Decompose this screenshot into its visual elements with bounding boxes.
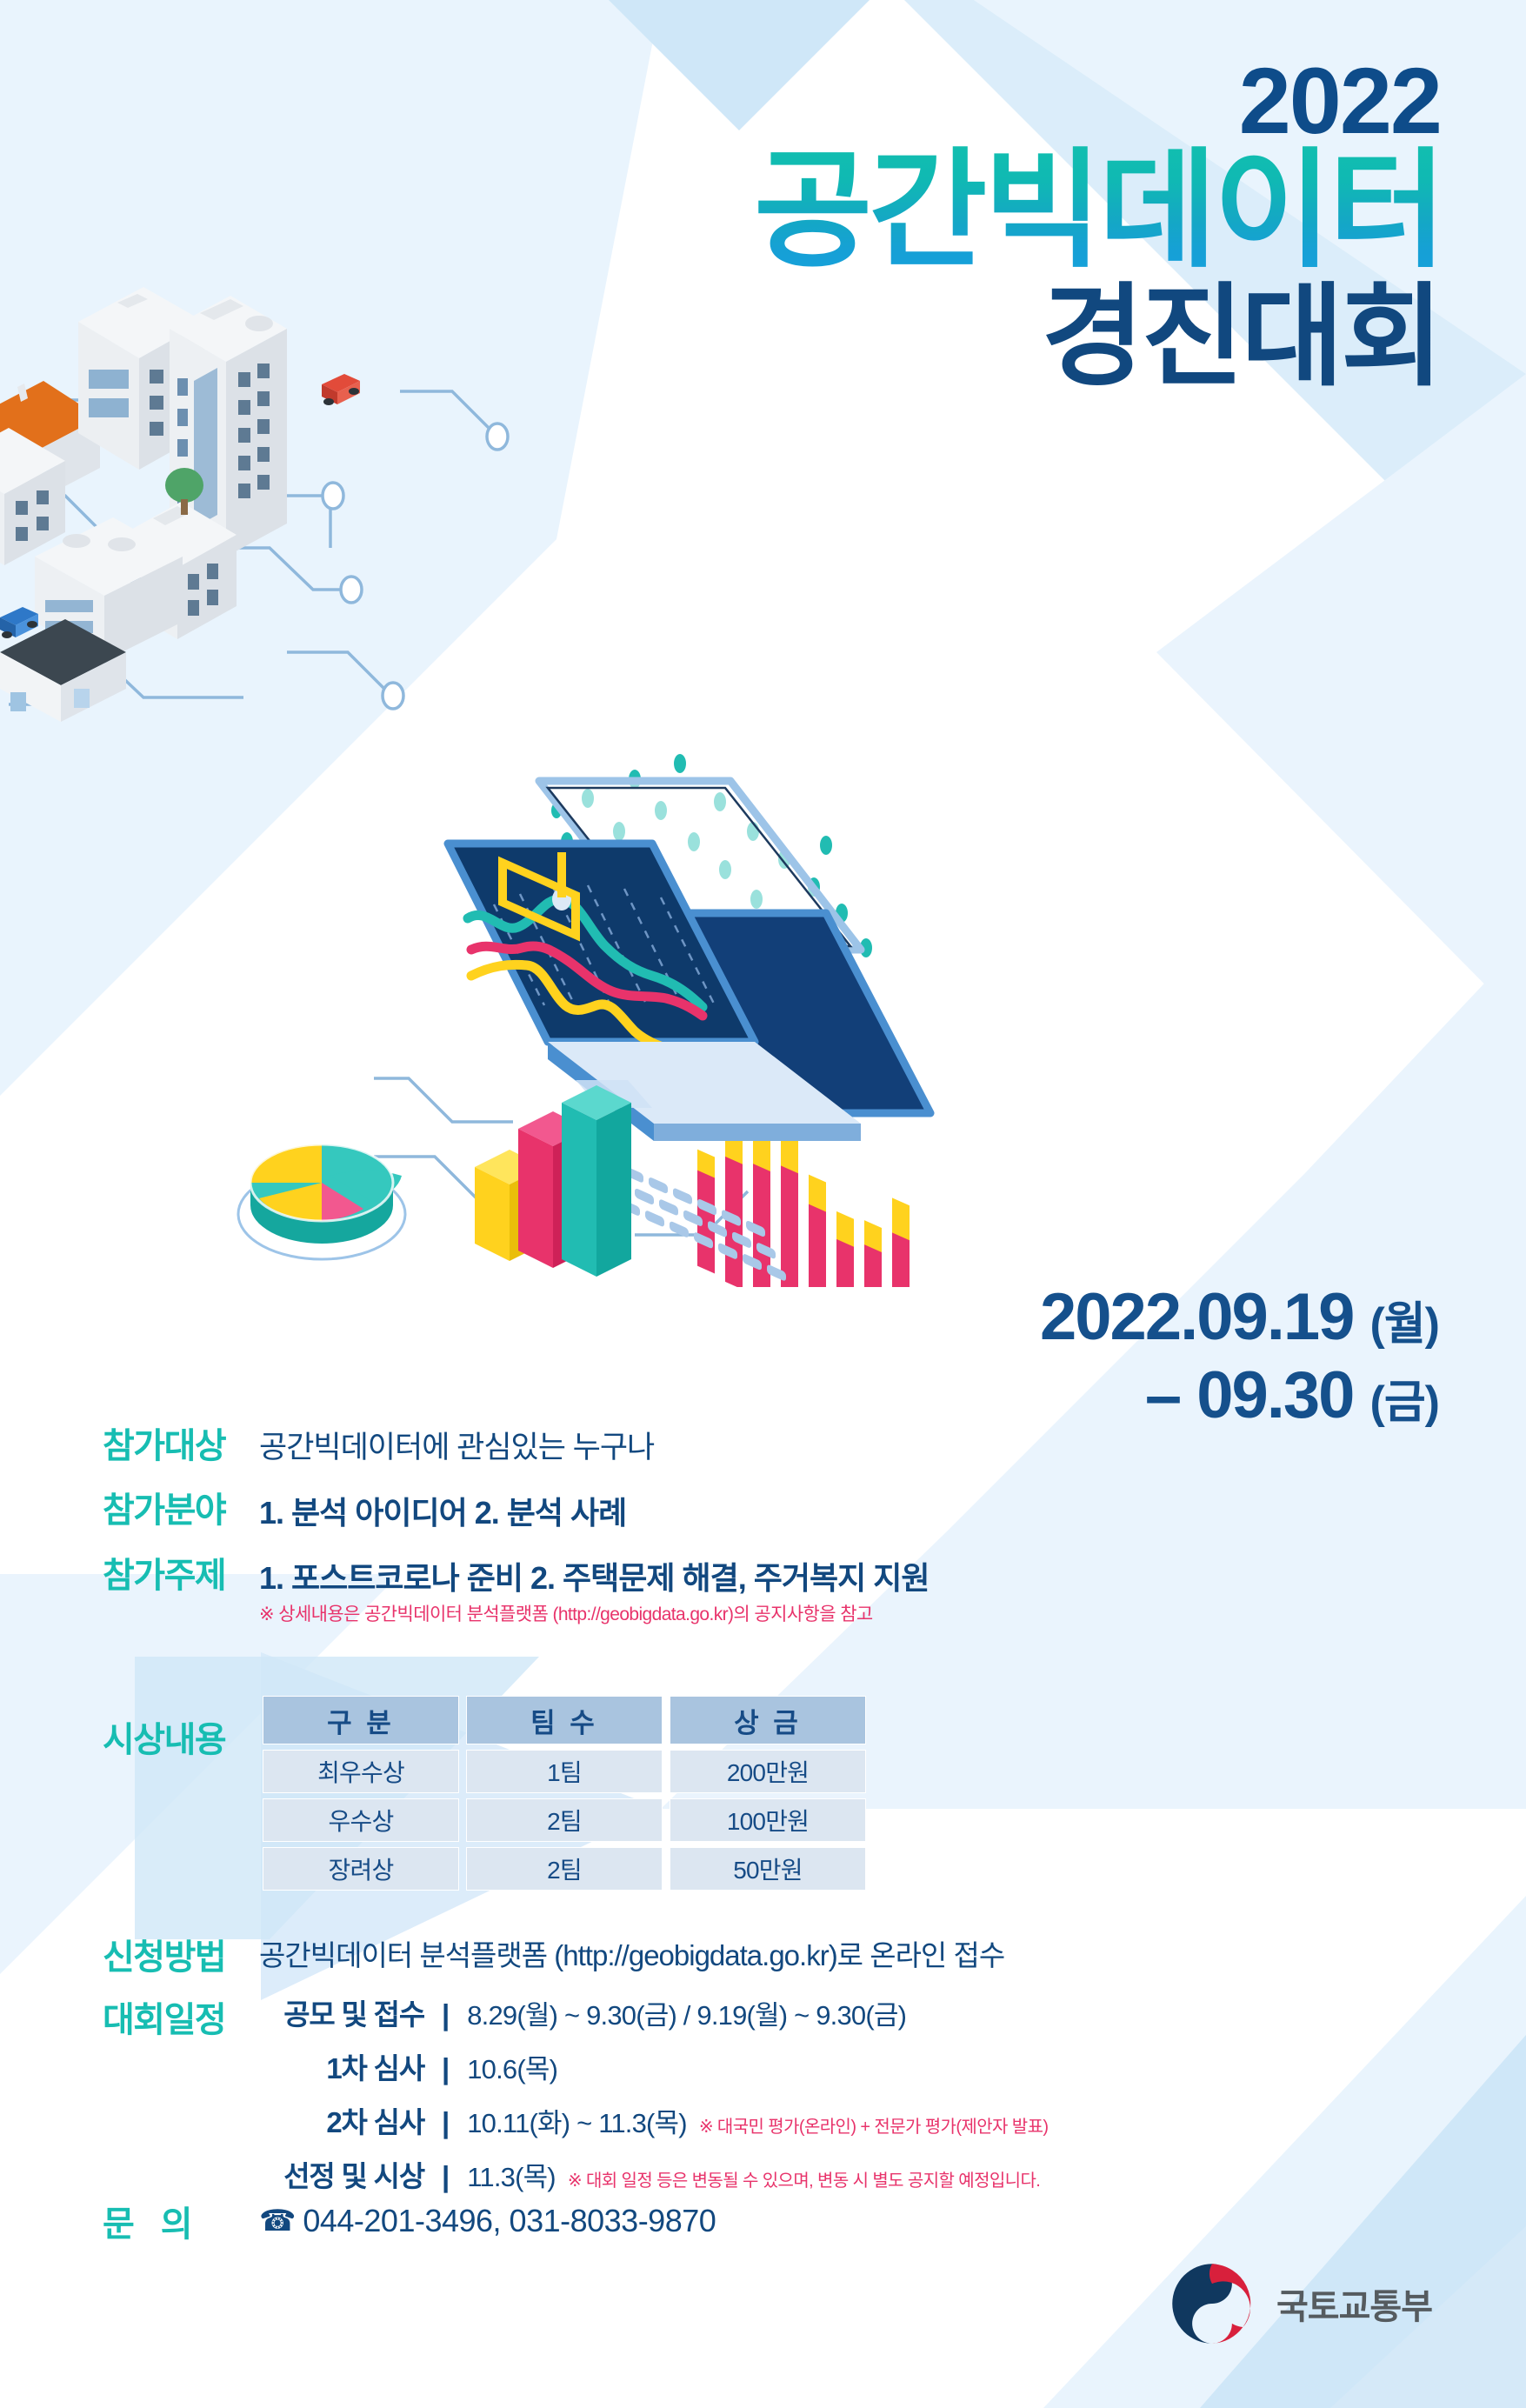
schedule-row-award: 선정 및 시상 | 11.3(목) ※ 대회 일정 등은 변동될 수 있으며, … [270, 2153, 1526, 2195]
table-row: 장려상 2팀 50만원 [263, 1847, 866, 1891]
info-value-target: 공간빅데이터에 관심있는 누구나 [259, 1426, 654, 1466]
pie-chart-3d [250, 1144, 402, 1244]
award-cell-prize: 200만원 [670, 1750, 866, 1793]
event-date-start: 2022.09.19 (월) [1040, 1278, 1439, 1357]
schedule-section: 대회일정 공모 및 접수 | 8.29(월) ~ 9.30(금) / 9.19(… [0, 1991, 1526, 2207]
info-row-target: 참가대상 공간빅데이터에 관심있는 누구나 [0, 1426, 1526, 1466]
schedule-note-round2: ※ 대국민 평가(온라인) + 전문가 평가(제안자 발표) [699, 2112, 1049, 2138]
poster-title-sub: 경진대회 [1042, 277, 1441, 399]
award-cell-category: 최우수상 [263, 1750, 459, 1793]
isometric-city-illustration [0, 287, 696, 826]
schedule-name-award: 선정 및 시상 [270, 2153, 424, 2195]
schedule-date-award: 11.3(목) [467, 2155, 556, 2194]
table-row: 최우수상 1팀 200만원 [263, 1750, 866, 1793]
poster-title-main: 공간빅데이터 [754, 139, 1443, 283]
chart-figures-illustration [217, 1052, 635, 1278]
apply-row: 신청방법 공간빅데이터 분석플랫폼 (http://geobigdata.go.… [0, 1929, 1526, 1979]
award-table-header-row: 구 분 팀 수 상 금 [263, 1696, 866, 1744]
event-date-block: 2022.09.19 (월) – 09.30 (금) [1040, 1278, 1439, 1434]
info-label-target: 참가대상 [103, 1426, 259, 1466]
event-date-start-value: 2022.09.19 [1040, 1280, 1353, 1354]
schedule-row-round1: 1차 심사 | 10.6(목) [270, 2045, 1526, 2087]
schedule-date-submission: 8.29(월) ~ 9.30(금) / 9.19(월) ~ 9.30(금) [467, 1993, 906, 2032]
schedule-divider: | [442, 2106, 450, 2139]
info-label-field: 참가분야 [103, 1491, 259, 1531]
award-section: 시상내용 구 분 팀 수 상 금 최우수상 1팀 200만원 우수상 2팀 1 [0, 1691, 873, 1896]
contact-section: 문의 ☎ 044-201-3496, 031-8033-9870 [103, 2196, 716, 2246]
info-value-wrap-field: 1. 분석 아이디어 2. 분석 사례 [259, 1491, 626, 1531]
schedule-row-submission: 공모 및 접수 | 8.29(월) ~ 9.30(금) / 9.19(월) ~ … [270, 1991, 1526, 2033]
footer-ministry-logo: 국토교통부 [1167, 2258, 1432, 2349]
car-blue [0, 607, 38, 638]
poster-root: 2022 공간빅데이터 경진대회 2022.09.19 (월) – 09.30 … [0, 0, 1526, 2408]
schedule-divider: | [442, 2052, 450, 2085]
schedule-date-round2: 10.11(화) ~ 11.3(목) [467, 2101, 687, 2140]
korea-government-taegeuk-icon [1167, 2258, 1257, 2349]
apply-value: 공간빅데이터 분석플랫폼 (http://geobigdata.go.kr)로 … [259, 1929, 1004, 1974]
event-date-end-value: – 09.30 [1145, 1358, 1354, 1432]
telephone-icon: ☎ [259, 2206, 296, 2236]
schedule-row-round2: 2차 심사 | 10.11(화) ~ 11.3(목) ※ 대국민 평가(온라인)… [270, 2099, 1526, 2141]
award-cell-category: 우수상 [263, 1798, 459, 1842]
award-cell-teams: 2팀 [466, 1798, 663, 1842]
info-row-field: 참가분야 1. 분석 아이디어 2. 분석 사례 [0, 1491, 1526, 1531]
bar-chart-bars [697, 1124, 910, 1287]
info-note-topic: ※ 상세내용은 공간빅데이터 분석플랫폼 (http://geobigdata.… [259, 1604, 929, 1625]
schedule-note-award: ※ 대회 일정 등은 변동될 수 있으며, 변동 시 별도 공지할 예정입니다. [568, 2166, 1040, 2191]
award-cell-teams: 2팀 [466, 1847, 663, 1891]
schedule-name-round1: 1차 심사 [270, 2045, 424, 2087]
info-value-field: 1. 분석 아이디어 2. 분석 사례 [259, 1491, 626, 1531]
award-cell-teams: 1팀 [466, 1750, 663, 1793]
schedule-name-submission: 공모 및 접수 [270, 1991, 424, 2033]
schedule-label: 대회일정 [103, 1991, 225, 2042]
schedule-name-round2: 2차 심사 [270, 2099, 424, 2141]
info-row-topic: 참가주제 1. 포스트코로나 준비 2. 주택문제 해결, 주거복지 지원 ※ … [0, 1556, 1526, 1625]
schedule-rows: 공모 및 접수 | 8.29(월) ~ 9.30(금) / 9.19(월) ~ … [270, 1991, 1526, 2195]
event-date-end: – 09.30 (금) [1040, 1357, 1439, 1435]
event-date-end-day: (금) [1370, 1377, 1439, 1428]
event-date-start-day: (월) [1370, 1299, 1439, 1350]
year-heading: 2022 [1239, 54, 1441, 148]
award-col-prize: 상 금 [670, 1696, 866, 1744]
award-col-teams: 팀 수 [466, 1696, 663, 1744]
schedule-date-round1: 10.6(목) [467, 2047, 557, 2086]
apply-label: 신청방법 [103, 1929, 259, 1979]
schedule-divider: | [442, 2160, 450, 2193]
award-cell-category: 장려상 [263, 1847, 459, 1891]
schedule-divider: | [442, 1998, 450, 2031]
info-label-topic: 참가주제 [103, 1556, 259, 1596]
car-red [322, 374, 360, 405]
award-cell-prize: 50만원 [670, 1847, 866, 1891]
info-section: 참가대상 공간빅데이터에 관심있는 누구나 참가분야 1. 분석 아이디어 2.… [0, 1426, 1526, 1651]
info-value-topic: 1. 포스트코로나 준비 2. 주택문제 해결, 주거복지 지원 [259, 1556, 929, 1597]
apply-section: 신청방법 공간빅데이터 분석플랫폼 (http://geobigdata.go.… [0, 1929, 1526, 1979]
contact-phone-numbers: 044-201-3496, 031-8033-9870 [303, 2203, 716, 2239]
award-label: 시상내용 [103, 1691, 259, 1762]
info-value-wrap-topic: 1. 포스트코로나 준비 2. 주택문제 해결, 주거복지 지원 ※ 상세내용은… [259, 1556, 929, 1625]
ministry-name: 국토교통부 [1276, 2278, 1432, 2329]
award-table: 구 분 팀 수 상 금 최우수상 1팀 200만원 우수상 2팀 100만원 장… [256, 1691, 873, 1896]
table-row: 우수상 2팀 100만원 [263, 1798, 866, 1842]
info-value-wrap-target: 공간빅데이터에 관심있는 누구나 [259, 1426, 654, 1466]
award-cell-prize: 100만원 [670, 1798, 866, 1842]
contact-label: 문의 [103, 2196, 259, 2246]
bar-chart-3d [475, 1085, 631, 1277]
award-col-category: 구 분 [263, 1696, 459, 1744]
